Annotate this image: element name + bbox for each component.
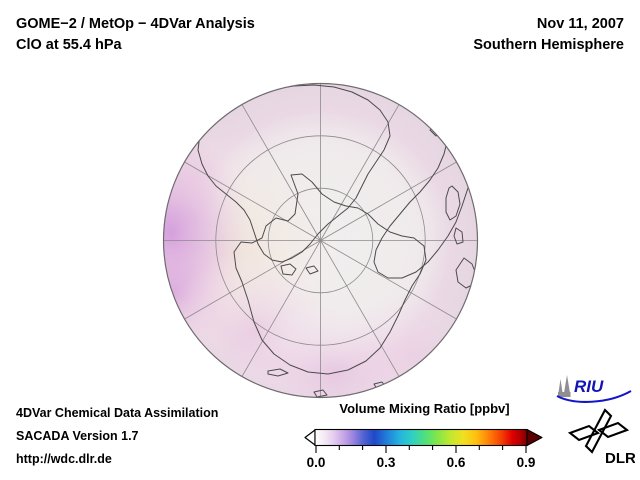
colorbar-tick-label: 0.6 xyxy=(447,455,466,470)
dlr-logo: DLR xyxy=(565,408,635,471)
hemisphere-label: Southern Hemisphere xyxy=(473,35,624,56)
figure-canvas: GOME−2 / MetOp − 4DVar Analysis ClO at 5… xyxy=(0,0,640,480)
dlr-wordmark: DLR xyxy=(605,450,635,466)
colorbar-title: Volume Mixing Ratio [ppbv] xyxy=(302,401,547,417)
globe-map xyxy=(162,82,479,399)
colorbar-tick-label: 0.3 xyxy=(377,455,396,470)
colorbar-gradient xyxy=(315,430,527,446)
page-subtitle: ClO at 55.4 hPa xyxy=(16,35,255,56)
header-right: Nov 11, 2007 Southern Hemisphere xyxy=(473,14,624,56)
riu-wordmark: RIU xyxy=(574,377,604,396)
colorbar-ticks xyxy=(316,446,526,453)
colorbar: Volume Mixing Ratio [ppbv] xyxy=(302,401,547,471)
orthographic-projection xyxy=(162,82,479,399)
riu-logo: RIU xyxy=(556,374,632,409)
footer-line-2: SACADA Version 1.7 xyxy=(16,425,218,448)
colorbar-tick-label: 0.9 xyxy=(517,455,536,470)
colorbar-tick-labels: 0.0 0.3 0.6 0.9 xyxy=(307,455,536,470)
colorbar-tick-label: 0.0 xyxy=(307,455,326,470)
colorbar-scale: 0.0 0.3 0.6 0.9 xyxy=(302,419,547,471)
riu-logo-mark: RIU xyxy=(556,374,632,404)
page-title: GOME−2 / MetOp − 4DVar Analysis xyxy=(16,14,255,35)
footer-line-1: 4DVar Chemical Data Assimilation xyxy=(16,402,218,425)
header-left: GOME−2 / MetOp − 4DVar Analysis ClO at 5… xyxy=(16,14,255,56)
colorbar-extend-max-arrow xyxy=(527,430,542,446)
colorbar-extend-min-arrow xyxy=(305,430,315,445)
dlr-logo-mark: DLR xyxy=(565,408,635,466)
riu-spires-icon xyxy=(558,375,571,397)
footer-credits: 4DVar Chemical Data Assimilation SACADA … xyxy=(16,402,218,471)
footer-line-3: http://wdc.dlr.de xyxy=(16,448,218,471)
analysis-date: Nov 11, 2007 xyxy=(473,14,624,35)
dlr-bird-icon xyxy=(570,410,627,452)
